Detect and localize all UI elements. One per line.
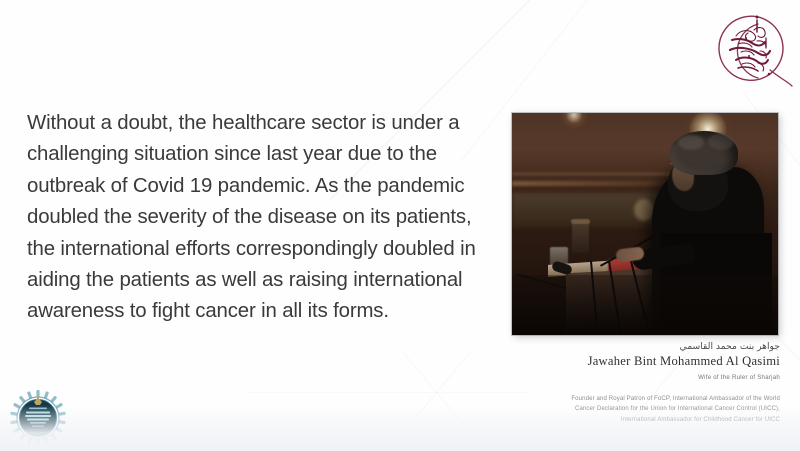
hall-wall-medallion <box>634 199 654 221</box>
hall-railing <box>512 181 686 186</box>
caption-arabic-name: جواهر بنت محمد القاسمي <box>460 341 780 353</box>
podium-cup <box>572 221 589 253</box>
podium-cup-rim <box>571 219 590 224</box>
headscarf-fold <box>678 135 704 150</box>
caption-english-name: Jawaher Bint Mohammed Al Qasimi <box>460 354 780 369</box>
quote-text: Without a doubt, the healthcare sector i… <box>27 108 489 328</box>
photo-caption: جواهر بنت محمد القاسمي Jawaher Bint Moha… <box>460 341 780 425</box>
hall-railing-highlight <box>512 173 680 175</box>
photo-foreground-shadow <box>512 275 778 335</box>
watermark-stroke <box>374 352 471 451</box>
speaker-photograph <box>512 113 778 335</box>
headscarf-fold <box>708 133 734 150</box>
slide-canvas: Without a doubt, the healthcare sector i… <box>0 0 800 451</box>
caption-role: Wife of the Ruler of Sharjah <box>460 373 780 383</box>
circular-seal-emblem <box>4 388 72 448</box>
arabic-calligraphy-logo <box>708 8 796 90</box>
caption-titles: Founder and Royal Patron of FoCP, Intern… <box>460 394 780 425</box>
photograph-scene <box>512 113 778 335</box>
